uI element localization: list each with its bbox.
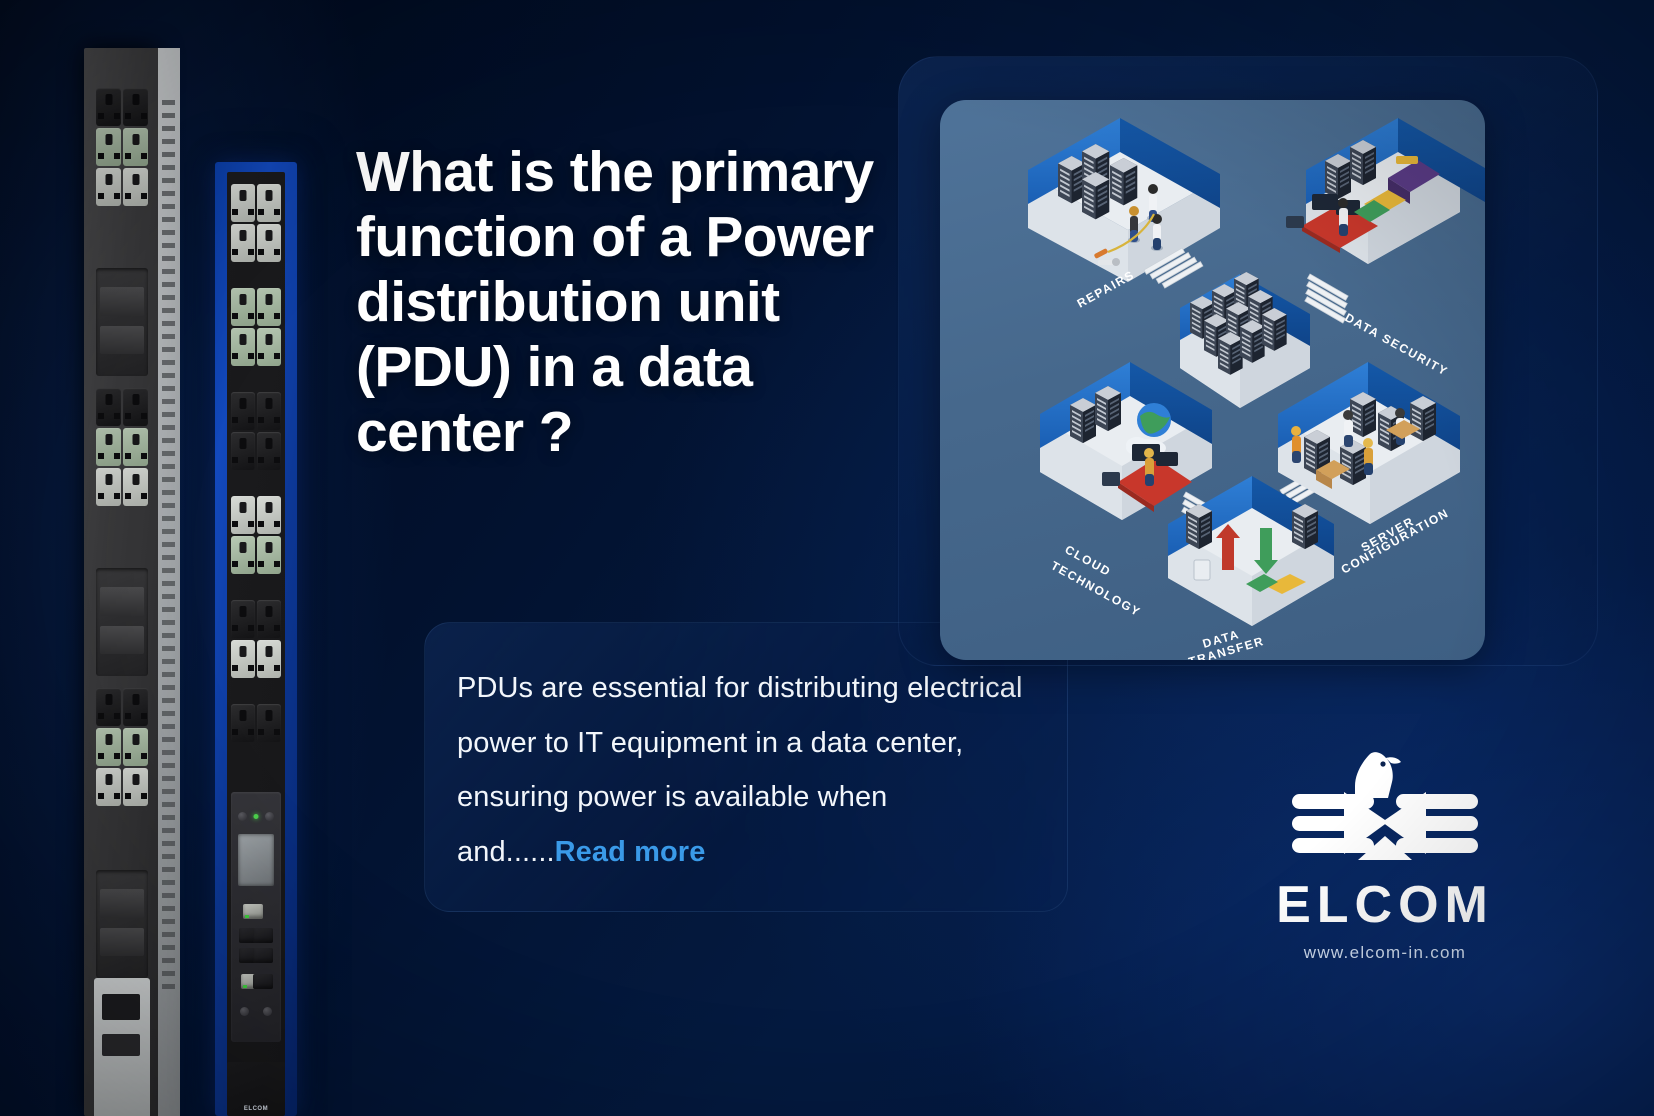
label-server-configuration-2: CONFIGURATION	[1339, 506, 1452, 577]
grey-pdu-port	[102, 1034, 140, 1056]
outlet-socket	[231, 536, 255, 574]
outlet-socket	[96, 728, 121, 766]
answer-paragraph: PDUs are essential for distributing elec…	[457, 661, 1039, 879]
grey-pdu-port	[102, 994, 140, 1020]
outlet-socket	[123, 468, 148, 506]
blue-pdu-badge: ELCOM	[235, 1106, 277, 1112]
brand-url: www.elcom-in.com	[1185, 943, 1585, 963]
figure	[1338, 198, 1348, 236]
outlet-socket	[231, 288, 255, 326]
outlet-socket	[123, 428, 148, 466]
outlet-socket	[257, 288, 281, 326]
figure	[1144, 448, 1154, 486]
grey-pdu-breaker-1	[96, 258, 148, 386]
figure	[1343, 410, 1353, 447]
blue-pdu-endcap: ELCOM	[227, 1062, 285, 1116]
outlet-socket	[257, 432, 281, 470]
blue-pdu-outlet-bank-2	[231, 288, 281, 368]
lcd-display	[238, 834, 274, 886]
figure	[1363, 438, 1373, 475]
room-data-security: DATA SECURITY	[1286, 118, 1485, 379]
blue-pdu-outlet-bank-5	[231, 600, 281, 680]
outlet-socket	[96, 768, 121, 806]
outlet-socket	[123, 128, 148, 166]
grey-pdu-outlet-bank-1	[96, 88, 148, 208]
data-center-diagram-card: REPAIRS	[940, 100, 1485, 660]
data-center-isometric-diagram: REPAIRS	[940, 100, 1485, 660]
outlet-socket	[231, 392, 255, 430]
outlet-socket	[257, 224, 281, 262]
blue-pdu-outlet-bank-6	[231, 704, 281, 744]
outlet-socket	[96, 688, 121, 726]
reset-button[interactable]	[240, 1007, 249, 1016]
page-title: What is the primary function of a Power …	[356, 140, 876, 465]
elcom-eagle-logo-icon	[1270, 742, 1500, 877]
outlet-socket	[257, 496, 281, 534]
breaker-block	[96, 870, 148, 978]
rj45-port-d	[253, 948, 273, 963]
outlet-socket	[231, 184, 255, 222]
room-data-transfer: DATA TRANSFER	[1168, 476, 1334, 660]
outlet-socket	[231, 432, 255, 470]
outlet-socket	[123, 768, 148, 806]
outlet-socket	[123, 168, 148, 206]
brand-name: ELCOM	[1185, 879, 1585, 931]
grey-pdu-outlet-bank-3	[96, 688, 148, 808]
status-led-icon	[254, 814, 259, 819]
pdu-hardware-stage: ELCOM	[0, 0, 340, 1116]
left-arrow-button[interactable]	[238, 812, 247, 821]
outlet-socket	[257, 704, 281, 742]
outlet-socket	[257, 328, 281, 366]
grey-pdu-control-module	[94, 978, 150, 1116]
room-repairs: REPAIRS	[1028, 118, 1220, 311]
outlet-socket	[123, 688, 148, 726]
grey-pdu-breaker-3	[96, 860, 148, 988]
outlet-socket	[257, 640, 281, 678]
outlet-socket	[123, 88, 148, 126]
ethernet-port-1	[243, 904, 263, 919]
label-repairs: REPAIRS	[1075, 268, 1137, 311]
outlet-socket	[231, 224, 255, 262]
outlet-socket	[231, 328, 255, 366]
read-more-link[interactable]: Read more	[555, 836, 706, 868]
link-led-icon	[245, 915, 249, 918]
grey-pdu-vent-slots	[162, 100, 175, 990]
outlet-socket	[231, 496, 255, 534]
grey-pdu-breaker-2	[96, 558, 148, 686]
outlet-socket	[257, 600, 281, 638]
outlet-socket	[123, 728, 148, 766]
blue-pdu-outlet-bank-4	[231, 496, 281, 576]
outlet-socket	[231, 704, 255, 742]
outlet-socket	[231, 600, 255, 638]
link-led-icon	[243, 985, 247, 988]
grey-pdu-outlet-bank-2	[96, 388, 148, 508]
outlet-socket	[96, 388, 121, 426]
outlet-socket	[96, 128, 121, 166]
answer-text: PDUs are essential for distributing elec…	[457, 672, 1023, 868]
breaker-block	[96, 268, 148, 376]
grey-vertical-pdu	[84, 48, 180, 1116]
breaker-block	[96, 568, 148, 676]
outlet-socket	[231, 640, 255, 678]
right-arrow-button[interactable]	[265, 812, 274, 821]
blue-pdu-outlet-bank-3	[231, 392, 281, 472]
outlet-socket	[96, 428, 121, 466]
outlet-socket	[96, 88, 121, 126]
outlet-socket	[96, 168, 121, 206]
rj45-port-b	[253, 928, 273, 943]
room-core	[1180, 272, 1310, 408]
outlet-socket	[123, 388, 148, 426]
outlet-socket	[257, 536, 281, 574]
outlet-socket	[96, 468, 121, 506]
outlet-socket	[257, 184, 281, 222]
figure	[1291, 426, 1301, 463]
config-button[interactable]	[263, 1007, 272, 1016]
outlet-socket	[257, 392, 281, 430]
blue-pdu-outlet-bank-1	[231, 184, 281, 264]
blue-vertical-pdu: ELCOM	[215, 162, 297, 1116]
blue-pdu-control-panel[interactable]	[231, 792, 281, 1042]
brand-logo-block: ELCOM www.elcom-in.com	[1185, 742, 1585, 963]
serial-port	[253, 974, 273, 989]
